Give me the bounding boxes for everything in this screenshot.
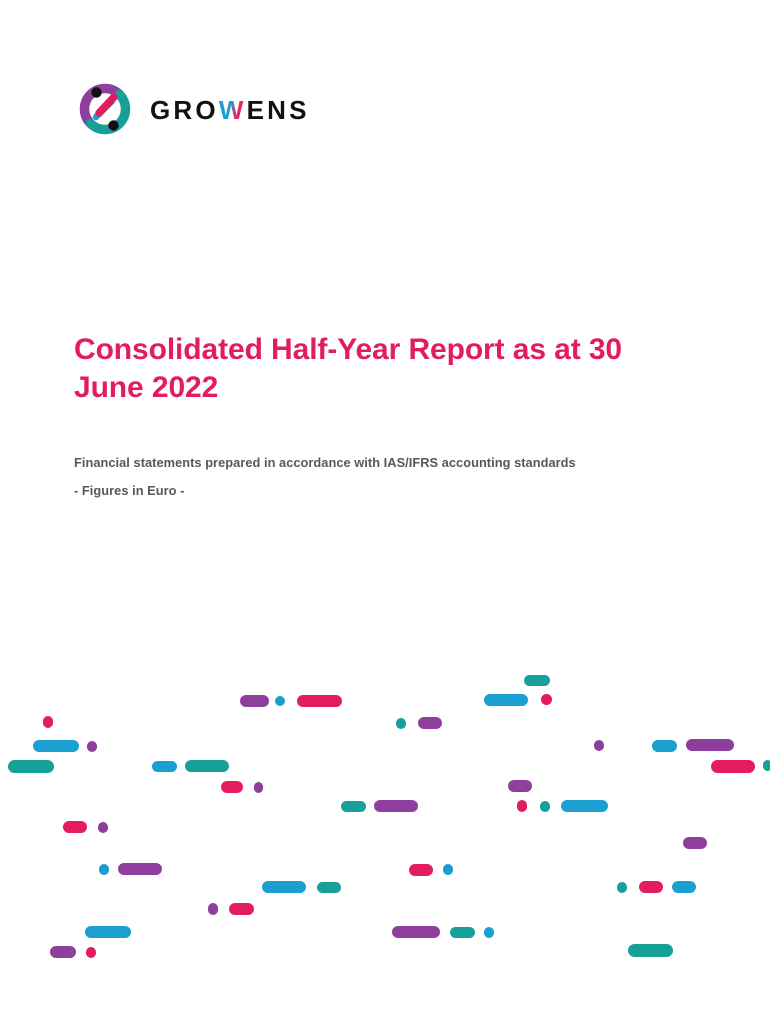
decorative-dash (185, 760, 229, 772)
decorative-dash (98, 822, 108, 833)
growens-logo-mark-icon (74, 80, 136, 138)
decorative-dash (617, 882, 627, 893)
decorative-dash (118, 863, 162, 875)
growens-logo: GROWENS (74, 80, 310, 138)
report-subtitle: Financial statements prepared in accorda… (74, 449, 694, 505)
decorative-dash (208, 903, 218, 915)
decorative-dash (275, 696, 285, 706)
decorative-dash (450, 927, 475, 938)
decorative-dash (443, 864, 453, 875)
decorative-dash (240, 695, 269, 707)
decorative-dash (262, 881, 306, 893)
decorative-dash (43, 716, 53, 728)
decorative-dash (484, 694, 528, 706)
decorative-dash (50, 946, 76, 958)
decorative-dash (99, 864, 109, 875)
decorative-dash (33, 740, 79, 752)
subtitle-line-currency: - Figures in Euro - (74, 477, 694, 505)
decorative-dash (8, 760, 54, 773)
decorative-dash (524, 675, 550, 686)
decorative-dash (152, 761, 177, 772)
subtitle-line-standards: Financial statements prepared in accorda… (74, 449, 694, 477)
decorative-dash (484, 927, 494, 938)
wordmark-accent-w: W (219, 97, 247, 123)
decorative-dash (628, 944, 673, 957)
wordmark-part-before: GRO (150, 97, 219, 123)
decorative-dash (85, 926, 131, 938)
decorative-dash (418, 717, 442, 729)
decorative-dash (508, 780, 532, 792)
decorative-dash (87, 741, 97, 752)
decorative-dash (639, 881, 663, 893)
wordmark-part-after: ENS (247, 97, 310, 123)
decorative-dash (686, 739, 734, 751)
growens-wordmark: GROWENS (150, 97, 310, 123)
decorative-dash (341, 801, 366, 812)
decorative-dash (711, 760, 755, 773)
decorative-dash (763, 760, 770, 771)
decorative-dash (672, 881, 696, 893)
decorative-dash (297, 695, 342, 707)
decorative-dash (396, 718, 406, 729)
decorative-dash-pattern (0, 0, 770, 1024)
decorative-dash (317, 882, 341, 893)
decorative-dash (392, 926, 440, 938)
decorative-dash (409, 864, 433, 876)
report-title: Consolidated Half-Year Report as at 30 J… (74, 331, 674, 408)
decorative-dash (541, 694, 552, 705)
decorative-dash (254, 782, 263, 793)
decorative-dash (561, 800, 608, 812)
decorative-dash (63, 821, 87, 833)
decorative-dash (374, 800, 418, 812)
decorative-dash (517, 800, 527, 812)
decorative-dash (652, 740, 677, 752)
decorative-dash (86, 947, 96, 958)
decorative-dash (221, 781, 243, 793)
document-page: GROWENS Consolidated Half-Year Report as… (0, 0, 770, 1024)
decorative-dash (683, 837, 707, 849)
decorative-dash (229, 903, 254, 915)
decorative-dash (594, 740, 604, 751)
decorative-dash (540, 801, 550, 812)
